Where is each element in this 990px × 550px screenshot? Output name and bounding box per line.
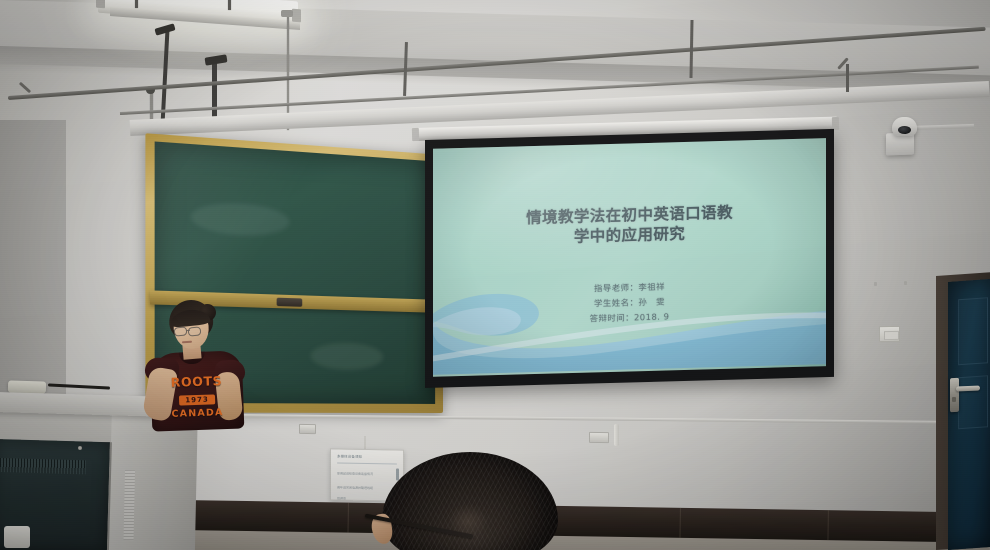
wall-nail bbox=[874, 282, 877, 286]
shirt-country-text: CANADA bbox=[167, 407, 227, 419]
lectern-vent-left bbox=[0, 458, 86, 474]
projector-screen: 情境教学法在初中英语口语教 学中的应用研究 指导老师：李祖祥 学生姓名：孙 雯 … bbox=[425, 129, 834, 388]
rail-bracket-3 bbox=[846, 64, 849, 92]
door-handle-icon[interactable] bbox=[956, 386, 980, 392]
door-keyhole-icon bbox=[952, 397, 956, 402]
presenter-shirt-graphic: ROOTS 1973 CANADA bbox=[166, 375, 227, 419]
wall-switch-plate[interactable] bbox=[879, 326, 900, 342]
light-endcap-right bbox=[292, 9, 301, 23]
classroom-door[interactable] bbox=[948, 279, 990, 550]
door-panel-upper bbox=[958, 297, 988, 365]
light-endcap-left bbox=[96, 0, 105, 8]
wall-conduit bbox=[614, 424, 619, 446]
slide-title: 情境教学法在初中英语口语教 学中的应用研究 bbox=[433, 200, 826, 251]
wall-outlet-box-1[interactable] bbox=[589, 432, 609, 443]
lectern-panel-screw bbox=[78, 446, 82, 450]
wall-outlet-box-2[interactable] bbox=[299, 424, 316, 434]
camera-lens-icon bbox=[898, 126, 911, 134]
drop-wire-mount-1 bbox=[281, 10, 293, 17]
light-hanger-rod-1 bbox=[135, 0, 138, 8]
lectern-vent-right bbox=[124, 470, 135, 540]
light-hanger-rod-2 bbox=[228, 0, 231, 10]
presenter-student: ROOTS 1973 CANADA bbox=[143, 300, 247, 425]
classroom-photo-scene: 情境教学法在初中英语口语教 学中的应用研究 指导老师：李祖祥 学生姓名：孙 雯 … bbox=[0, 0, 990, 550]
baseboard-seam bbox=[679, 508, 680, 538]
lectern-lower-object bbox=[4, 526, 30, 548]
screen-housing-cap-left bbox=[412, 128, 419, 141]
door-lock-plate[interactable] bbox=[950, 378, 959, 413]
baseboard-seam bbox=[348, 503, 349, 533]
baseboard-seam bbox=[827, 510, 828, 540]
wall-nail bbox=[904, 281, 907, 285]
door-panel-mid bbox=[958, 375, 988, 429]
shirt-year-badge: 1973 bbox=[179, 394, 215, 405]
slide-surface: 情境教学法在初中英语口语教 学中的应用研究 指导老师：李祖祥 学生姓名：孙 雯 … bbox=[433, 138, 826, 377]
chalk-eraser bbox=[277, 298, 303, 307]
shirt-brand-text: ROOTS bbox=[166, 375, 226, 390]
foreground-audience-head bbox=[366, 452, 574, 550]
